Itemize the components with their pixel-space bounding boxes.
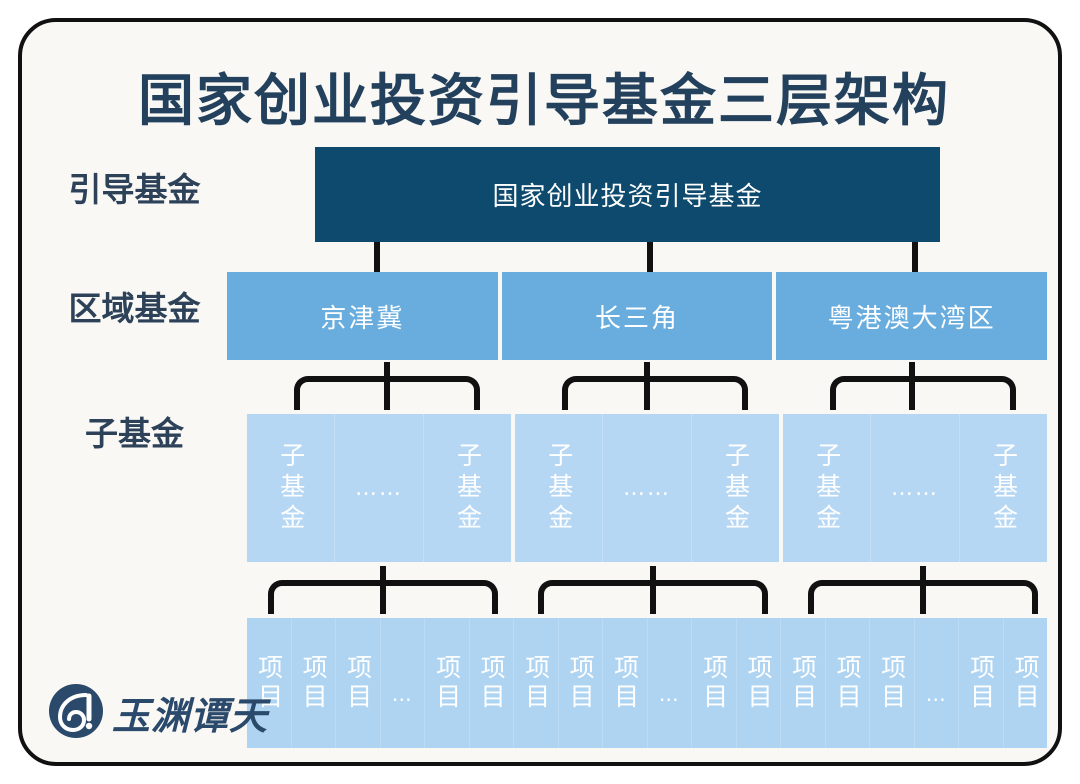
project-ellipsis-15: … <box>915 618 960 748</box>
project-cell-label: 项目 <box>1008 654 1042 712</box>
diagram-card: 国家创业投资引导基金三层架构 引导基金 区域基金 子基金 国家创业投资引导基金 … <box>18 18 1062 766</box>
project-cell-label: 项目 <box>341 654 375 712</box>
sub-fund-label-1b: 子基金 <box>449 442 485 535</box>
region-cell-3[interactable]: 粤港澳大湾区 <box>776 272 1047 360</box>
sub-fund-band: 子基金 …… 子基金 子基金 …… 子基金 子基金 <box>247 414 1047 562</box>
sub-fund-ellipsis-label-1: …… <box>355 476 403 501</box>
project-ellipsis-label: … <box>926 681 947 708</box>
sub-fund-label-2a: 子基金 <box>541 442 577 535</box>
project-cell-label: 项目 <box>430 654 464 712</box>
sub-fund-cell-1a[interactable]: 子基金 <box>247 414 335 562</box>
project-cell-6[interactable]: 项目 <box>514 618 559 748</box>
region-cell-1[interactable]: 京津冀 <box>227 272 498 360</box>
sub-fund-label-2b: 子基金 <box>717 442 753 535</box>
row-label-sub-fund: 子基金 <box>42 407 227 455</box>
project-cell-11[interactable]: 项目 <box>737 618 782 748</box>
project-cell-label: 项目 <box>474 654 508 712</box>
wave-spiral-icon <box>48 683 104 739</box>
project-ellipsis-label: … <box>659 681 680 708</box>
project-cell-1[interactable]: 项目 <box>292 618 337 748</box>
sub-fund-label-1a: 子基金 <box>273 442 309 535</box>
sub-fund-group-1: 子基金 …… 子基金 <box>247 414 511 562</box>
project-cell-label: 项目 <box>519 654 553 712</box>
project-cell-label: 项目 <box>697 654 731 712</box>
project-cell-label: 项目 <box>296 654 330 712</box>
project-cell-14[interactable]: 项目 <box>870 618 915 748</box>
region-fund-band: 京津冀 长三角 粤港澳大湾区 <box>227 272 1047 360</box>
page-title: 国家创业投资引导基金三层架构 <box>22 56 1062 137</box>
project-cell-label: 项目 <box>964 654 998 712</box>
sub-fund-ellipsis-label-2: …… <box>623 476 671 501</box>
region-cell-2[interactable]: 长三角 <box>502 272 773 360</box>
project-cell-8[interactable]: 项目 <box>603 618 648 748</box>
connector-guide-to-region-1 <box>374 242 380 274</box>
connector-sub-to-project-2 <box>538 580 768 618</box>
sub-fund-group-3: 子基金 …… 子基金 <box>783 414 1047 562</box>
sub-fund-label-3a: 子基金 <box>809 442 845 535</box>
project-cell-12[interactable]: 项目 <box>781 618 826 748</box>
project-cell-label: 项目 <box>875 654 909 712</box>
guide-fund-label: 国家创业投资引导基金 <box>492 176 762 213</box>
brand-logo-text: 玉渊谭天 <box>112 685 268 740</box>
connector-guide-to-region-2 <box>647 242 653 274</box>
project-cell-4[interactable]: 项目 <box>425 618 470 748</box>
sub-fund-cell-3b[interactable]: 子基金 <box>960 414 1047 562</box>
project-cell-10[interactable]: 项目 <box>692 618 737 748</box>
connector-region-to-sub-2 <box>562 376 748 414</box>
sub-fund-cell-1b[interactable]: 子基金 <box>424 414 511 562</box>
sub-fund-group-2: 子基金 …… 子基金 <box>515 414 779 562</box>
project-cell-2[interactable]: 项目 <box>336 618 381 748</box>
sub-fund-cell-2b[interactable]: 子基金 <box>692 414 779 562</box>
project-cell-label: 项目 <box>830 654 864 712</box>
region-label-2: 长三角 <box>595 298 679 335</box>
connector-sub-to-project-3 <box>808 580 1038 618</box>
project-cell-17[interactable]: 项目 <box>1004 618 1048 748</box>
connector-sub-to-project-1 <box>268 580 498 618</box>
project-ellipsis-label: … <box>392 681 413 708</box>
project-cell-label: 项目 <box>741 654 775 712</box>
brand-logo: 玉渊谭天 <box>48 677 248 749</box>
connector-region-to-sub-1 <box>294 376 480 414</box>
project-cell-label: 项目 <box>786 654 820 712</box>
project-cell-16[interactable]: 项目 <box>959 618 1004 748</box>
sub-fund-label-3b: 子基金 <box>985 442 1021 535</box>
sub-fund-ellipsis-label-3: …… <box>891 476 939 501</box>
region-label-3: 粤港澳大湾区 <box>828 298 996 335</box>
guide-fund-node[interactable]: 国家创业投资引导基金 <box>315 147 940 242</box>
sub-fund-cell-2a[interactable]: 子基金 <box>515 414 603 562</box>
sub-fund-ellipsis-3: …… <box>871 414 959 562</box>
row-label-region-fund: 区域基金 <box>42 282 227 330</box>
sub-fund-cell-3a[interactable]: 子基金 <box>783 414 871 562</box>
sub-fund-ellipsis-1: …… <box>335 414 423 562</box>
connector-region-to-sub-3 <box>830 376 1016 414</box>
project-ellipsis-3: … <box>381 618 426 748</box>
connector-guide-to-region-3 <box>912 242 918 274</box>
sub-fund-ellipsis-2: …… <box>603 414 691 562</box>
region-label-1: 京津冀 <box>320 298 404 335</box>
project-cell-label: 项目 <box>563 654 597 712</box>
project-band: 项目项目项目…项目项目项目项目项目…项目项目项目项目项目…项目项目 <box>247 618 1047 748</box>
project-cell-13[interactable]: 项目 <box>826 618 871 748</box>
row-label-guide-fund: 引导基金 <box>42 163 227 211</box>
project-cell-5[interactable]: 项目 <box>470 618 515 748</box>
project-cell-7[interactable]: 项目 <box>559 618 604 748</box>
project-cell-label: 项目 <box>608 654 642 712</box>
project-ellipsis-9: … <box>648 618 693 748</box>
